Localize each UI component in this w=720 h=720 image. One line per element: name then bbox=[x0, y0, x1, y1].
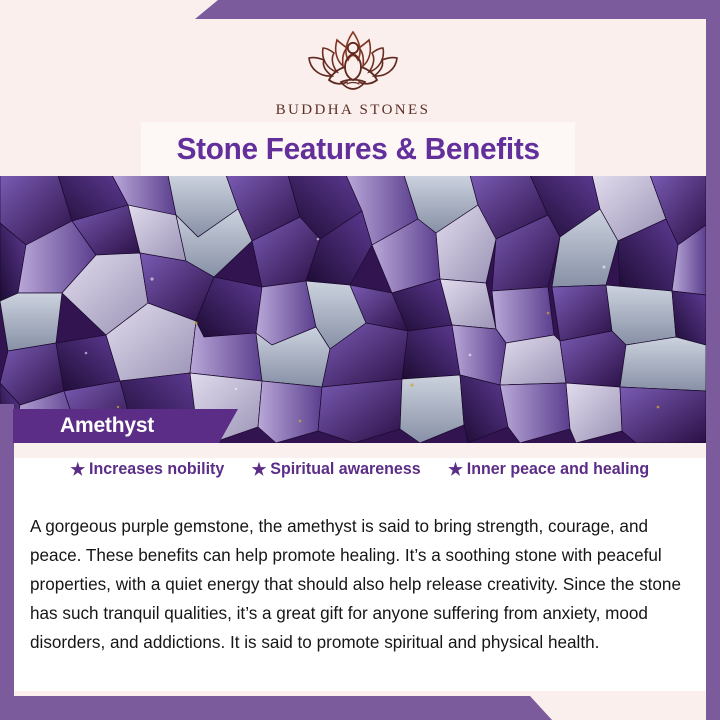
star-icon: ★ bbox=[70, 461, 85, 478]
benefit-label: Spiritual awareness bbox=[270, 460, 420, 479]
frame-bar-left bbox=[0, 404, 14, 720]
benefit-item: ★ Spiritual awareness bbox=[251, 460, 420, 479]
benefit-label: Increases nobility bbox=[89, 460, 224, 479]
title-band: Stone Features & Benefits bbox=[141, 122, 575, 176]
stone-name-banner: Amethyst bbox=[13, 409, 238, 443]
amethyst-photo bbox=[0, 175, 706, 443]
panel-top-tint bbox=[14, 443, 706, 458]
benefit-item: ★ Increases nobility bbox=[70, 460, 224, 479]
frame-bar-right bbox=[706, 0, 720, 720]
benefit-label: Inner peace and healing bbox=[467, 460, 649, 479]
poster-canvas: BUDDHA STONES Stone Features & Benefits bbox=[0, 0, 720, 720]
header: BUDDHA STONES Stone Features & Benefits bbox=[0, 0, 706, 176]
page-title: Stone Features & Benefits bbox=[176, 131, 539, 167]
brand-logo: BUDDHA STONES bbox=[0, 26, 706, 119]
star-icon: ★ bbox=[448, 461, 463, 478]
star-icon: ★ bbox=[251, 461, 266, 478]
content-panel: ★ Increases nobility ★ Spiritual awarene… bbox=[14, 443, 706, 691]
benefit-item: ★ Inner peace and healing bbox=[448, 460, 649, 479]
stone-name: Amethyst bbox=[60, 414, 154, 438]
frame-bar-bottom bbox=[0, 696, 552, 720]
lotus-meditation-icon bbox=[293, 26, 413, 96]
benefits-row: ★ Increases nobility ★ Spiritual awarene… bbox=[14, 460, 706, 479]
stone-description: A gorgeous purple gemstone, the amethyst… bbox=[30, 512, 682, 657]
brand-name: BUDDHA STONES bbox=[276, 102, 431, 119]
frame-bar-top bbox=[195, 0, 720, 19]
